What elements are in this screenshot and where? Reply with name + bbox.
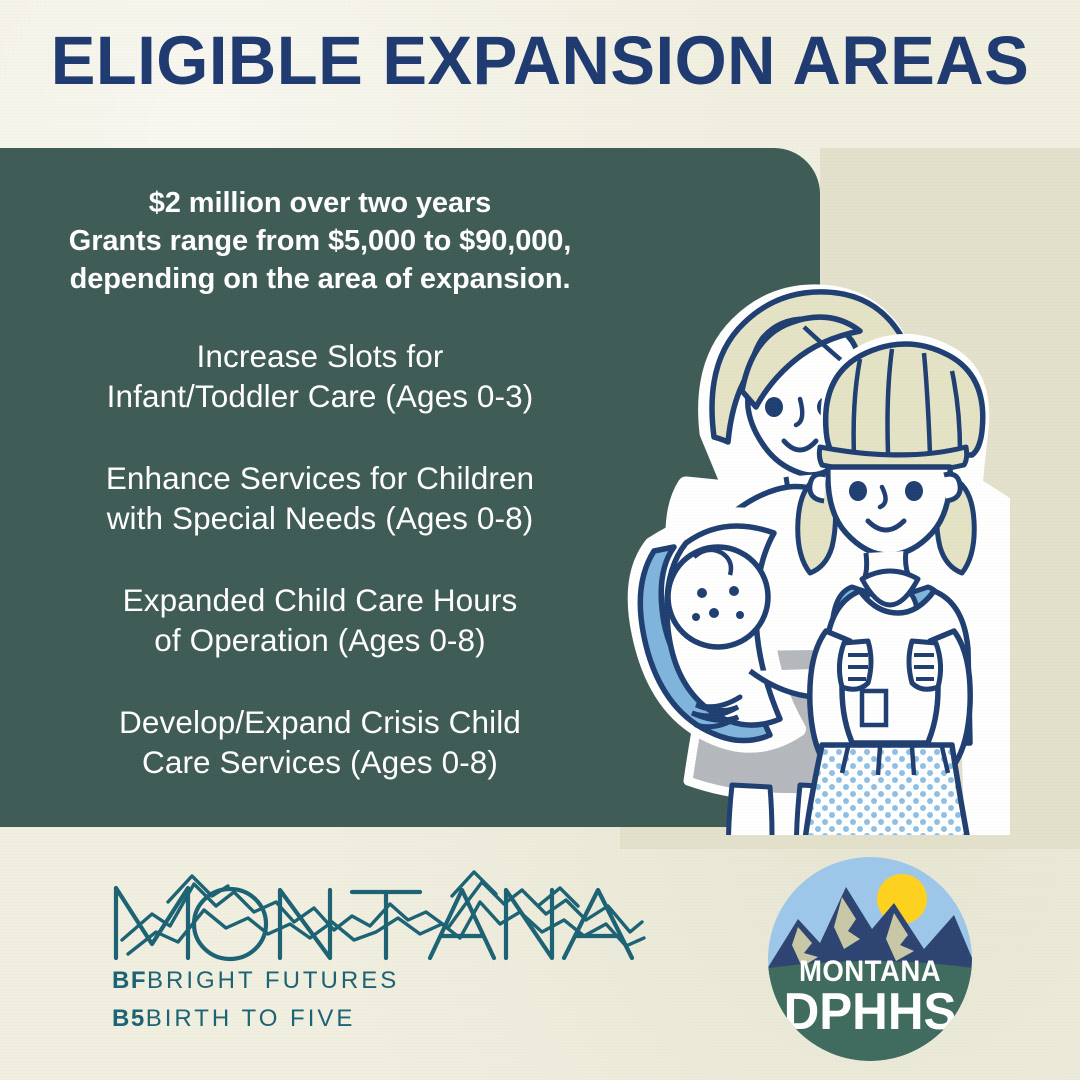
- bf-text: BRIGHT FUTURES: [147, 967, 399, 994]
- headline-line-2: Grants range from $5,000 to $90,000,: [24, 222, 616, 260]
- expansion-area-item: Increase Slots for Infant/Toddler Care (…: [0, 336, 640, 416]
- panel-text-block: $2 million over two years Grants range f…: [0, 148, 640, 782]
- area-line-2: with Special Needs (Ages 0-8): [18, 498, 622, 538]
- dphhs-main-text: DPHHS: [784, 982, 957, 1040]
- bf-prefix: BF: [112, 967, 147, 994]
- birth-to-five-tagline: B5BIRTH TO FIVE: [112, 1005, 355, 1033]
- headline-line-1: $2 million over two years: [24, 184, 616, 222]
- family-illustration: [590, 185, 1010, 835]
- b5-text: BIRTH TO FIVE: [146, 1005, 356, 1032]
- area-line-2: Care Services (Ages 0-8): [18, 742, 622, 782]
- expansion-area-item: Enhance Services for Children with Speci…: [0, 458, 640, 538]
- infographic-poster: ELIGIBLE EXPANSION AREAS $2 million over…: [0, 0, 1080, 1080]
- area-line-1: Increase Slots for: [18, 336, 622, 376]
- expansion-area-item: Develop/Expand Crisis Child Care Service…: [0, 702, 640, 782]
- montana-wordmark-icon: [108, 862, 648, 967]
- area-line-1: Enhance Services for Children: [18, 458, 622, 498]
- headline-line-3: depending on the area of expansion.: [24, 260, 616, 298]
- bright-futures-tagline: BFBRIGHT FUTURES: [112, 967, 399, 995]
- page-title: ELIGIBLE EXPANSION AREAS: [16, 22, 1064, 100]
- montana-dphhs-logo: MONTANA DPHHS MONTANA DPHHS: [768, 857, 972, 1061]
- area-line-1: Expanded Child Care Hours: [18, 580, 622, 620]
- b5-prefix: B5: [112, 1005, 146, 1032]
- area-line-2: Infant/Toddler Care (Ages 0-3): [18, 376, 622, 416]
- area-line-1: Develop/Expand Crisis Child: [18, 702, 622, 742]
- area-line-2: of Operation (Ages 0-8): [18, 620, 622, 660]
- expansion-area-item: Expanded Child Care Hours of Operation (…: [0, 580, 640, 660]
- grant-headline: $2 million over two years Grants range f…: [0, 184, 640, 298]
- bright-futures-logo: BFBRIGHT FUTURES B5BIRTH TO FIVE MONTANA: [108, 862, 648, 1042]
